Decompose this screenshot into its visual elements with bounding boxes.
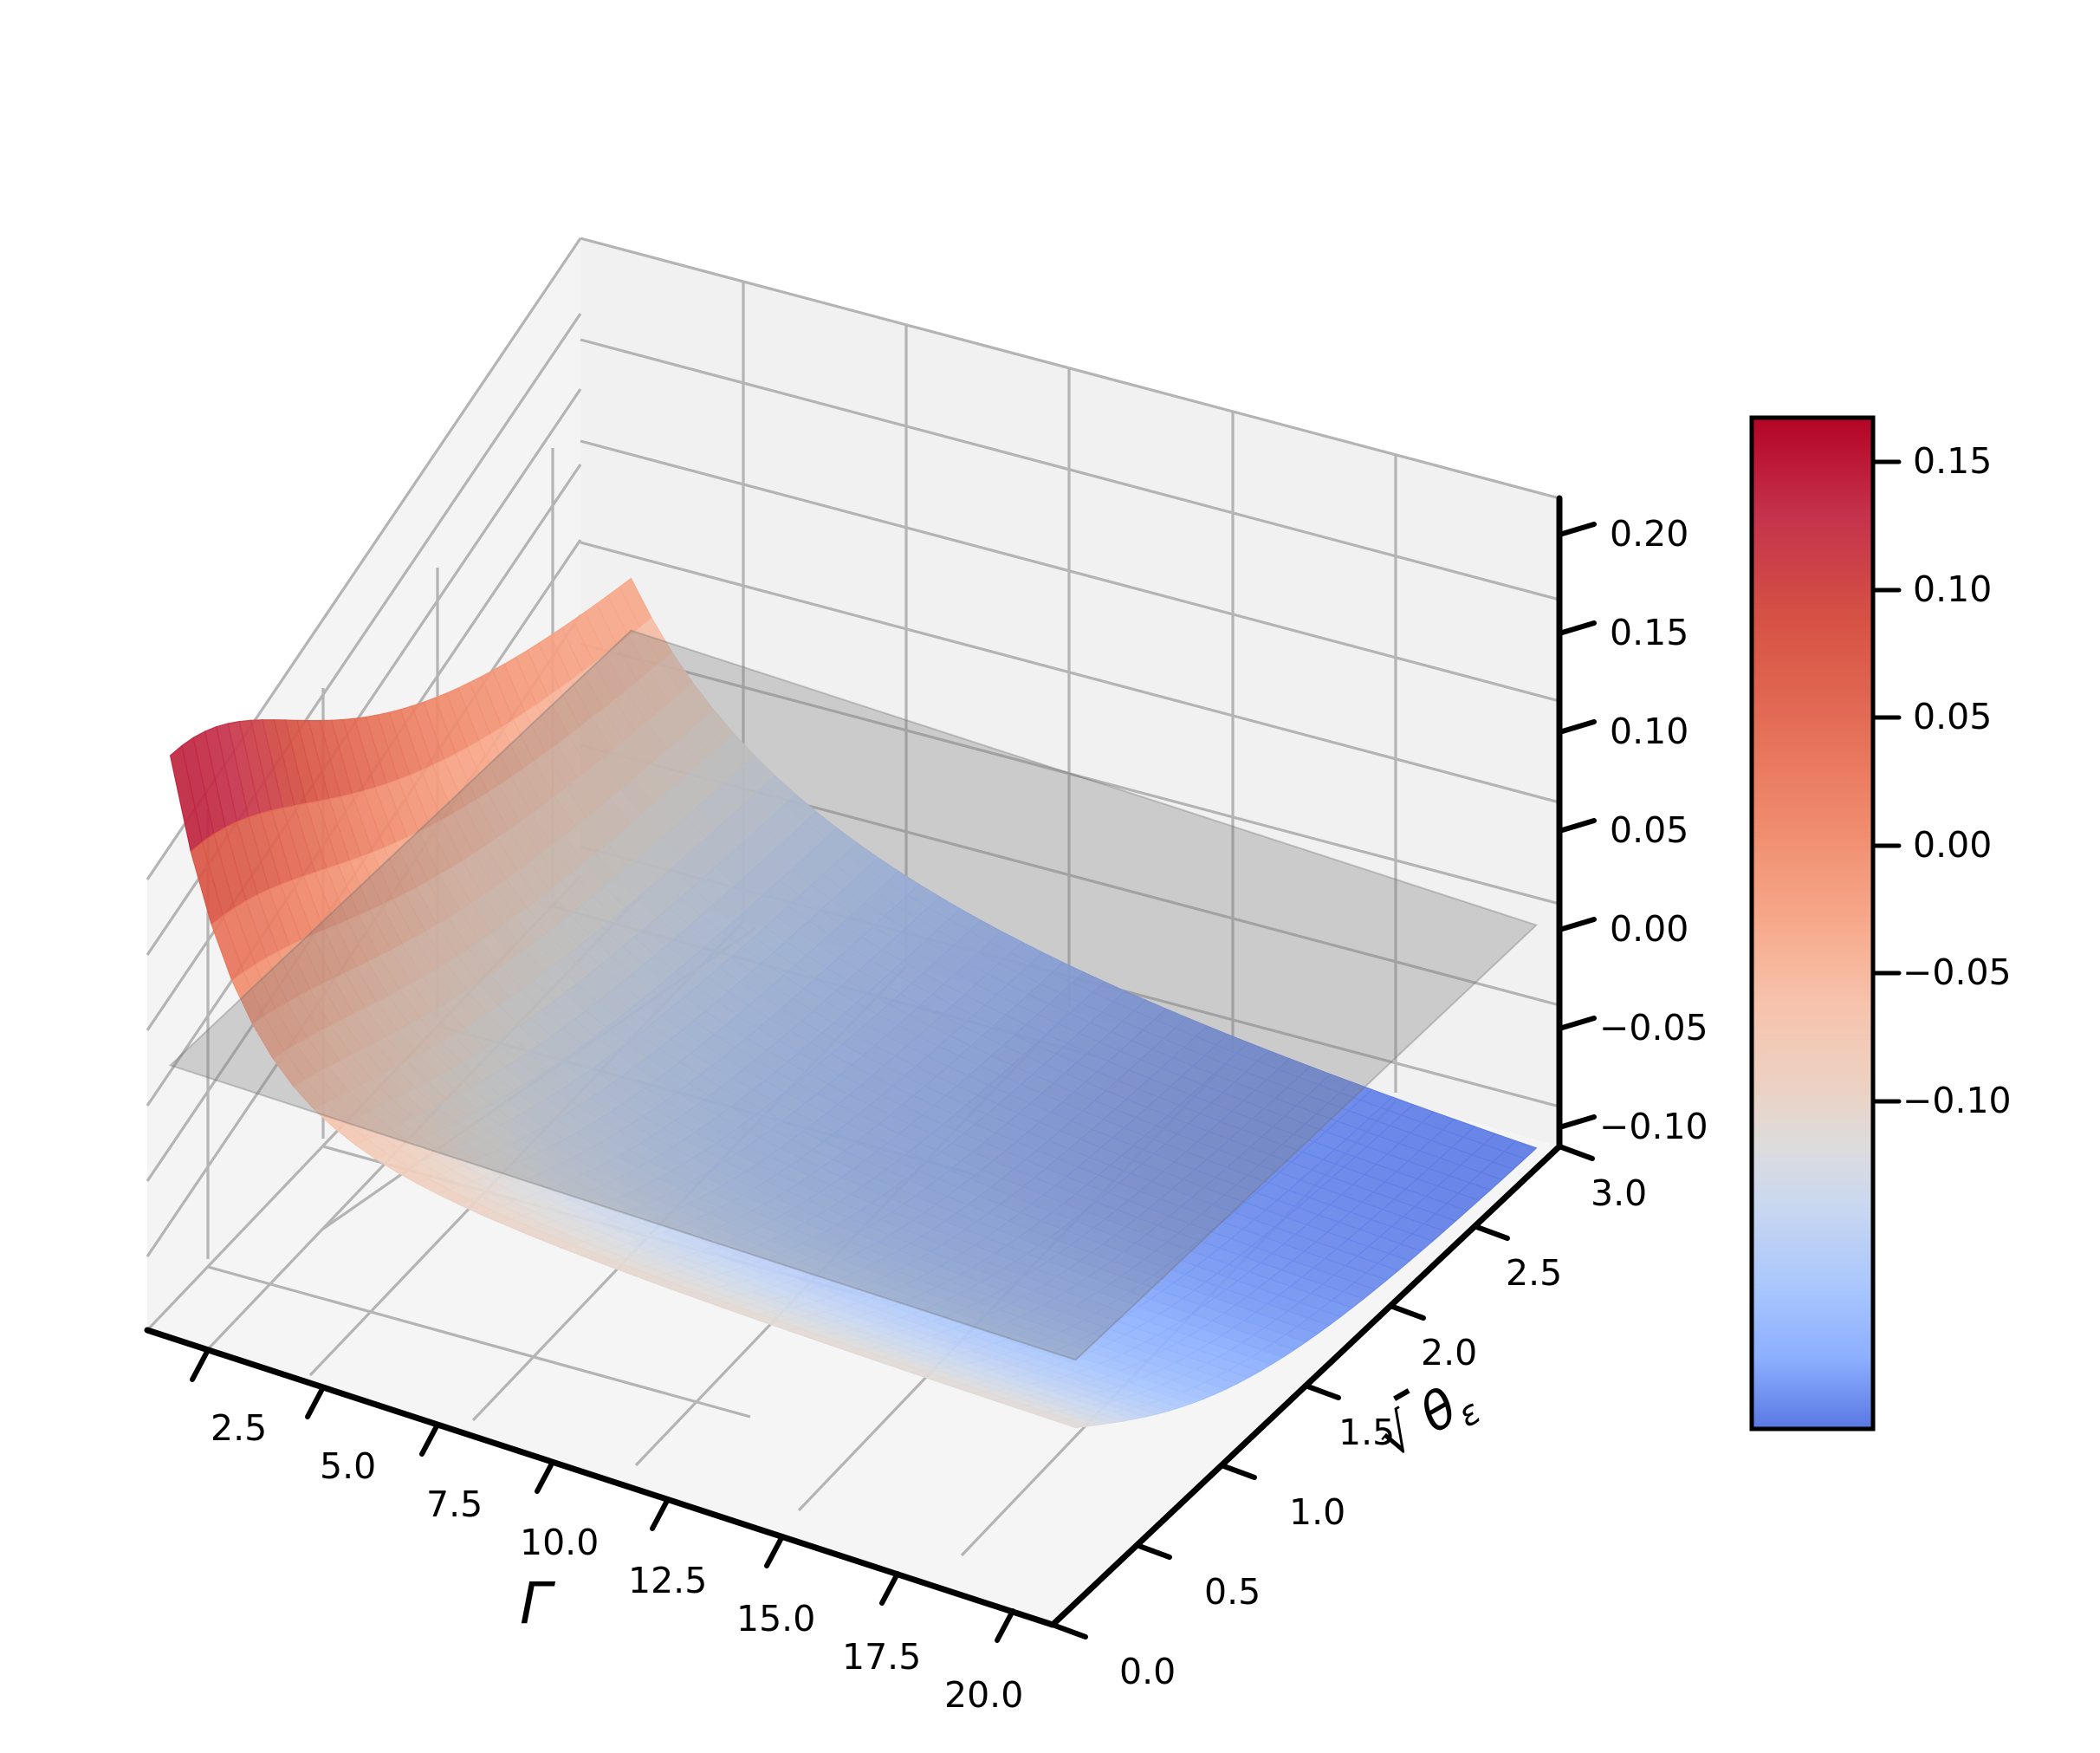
z-tick-label: 0.15 xyxy=(1610,612,1688,653)
y-tick-label: 0.5 xyxy=(1204,1571,1261,1613)
z-tick-label: 0.00 xyxy=(1610,908,1688,950)
z-tick-label: 0.10 xyxy=(1610,711,1688,752)
y-tick-label: 3.0 xyxy=(1591,1172,1647,1214)
x-tick-label: 10.0 xyxy=(520,1522,599,1563)
surface-3d-plot xyxy=(0,0,2100,1753)
y-tick-label: 2.5 xyxy=(1506,1252,1562,1294)
colorbar-tick-label: −0.05 xyxy=(1902,951,2012,993)
x-tick-label: 15.0 xyxy=(736,1598,815,1639)
colorbar-gradient xyxy=(1752,418,1873,1429)
x-tick-label: 20.0 xyxy=(944,1674,1023,1716)
x-tick-label: 5.0 xyxy=(320,1445,376,1487)
z-tick-label: 0.05 xyxy=(1610,809,1688,851)
colorbar-tick-label: −0.10 xyxy=(1902,1080,2012,1121)
colorbar-tick-label: 0.05 xyxy=(1913,696,1992,737)
y-tick-label: 2.0 xyxy=(1421,1332,1477,1373)
colorbar-tick-label: 0.15 xyxy=(1913,440,1992,482)
y-tick-label: 1.0 xyxy=(1289,1491,1345,1533)
z-tick-label: −0.10 xyxy=(1599,1106,1708,1147)
x-tick-label: 12.5 xyxy=(628,1560,707,1601)
z-tick-label: −0.05 xyxy=(1599,1007,1708,1049)
y-tick-label: 0.0 xyxy=(1119,1651,1176,1692)
colorbar-tick-label: 0.00 xyxy=(1913,824,1992,866)
colorbar-tick-label: 0.10 xyxy=(1913,568,1992,610)
x-axis-label: Γ xyxy=(520,1570,552,1637)
z-tick-label: 0.20 xyxy=(1610,513,1688,555)
x-tick-label: 17.5 xyxy=(842,1636,921,1678)
x-tick-label: 2.5 xyxy=(211,1407,267,1449)
x-tick-label: 7.5 xyxy=(426,1484,483,1525)
colorbar xyxy=(1752,418,1873,1429)
